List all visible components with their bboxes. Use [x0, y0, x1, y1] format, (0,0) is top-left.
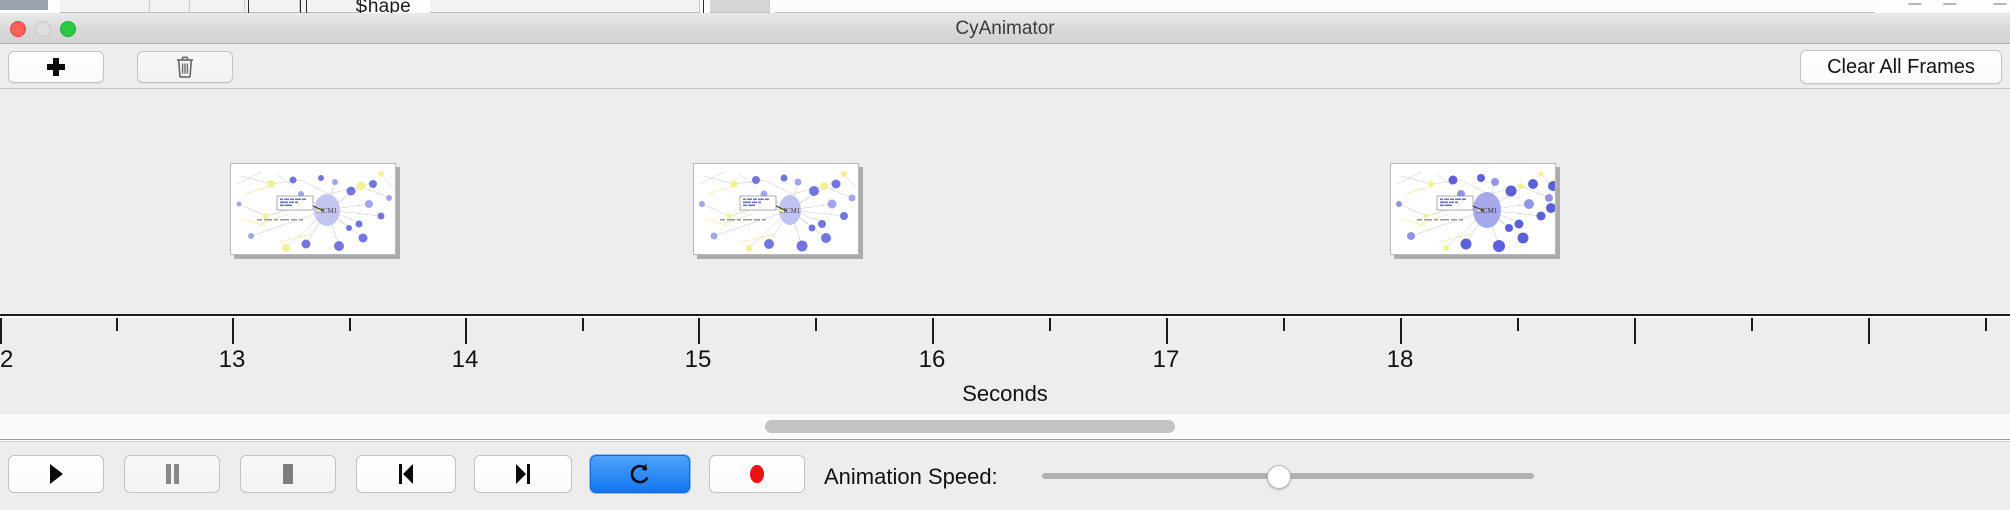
ruler-tick — [1517, 318, 1519, 331]
clear-all-frames-button[interactable]: Clear All Frames — [1800, 50, 2002, 84]
skip-back-icon — [396, 463, 416, 485]
ruler-tick — [815, 318, 817, 331]
pause-button[interactable] — [124, 455, 220, 493]
background-app-strip: Shape — [0, 0, 2010, 13]
ruler-tick — [932, 318, 934, 344]
frame-timeline-panel[interactable]: MCM1 — [0, 89, 2010, 316]
ruler-axis-title: Seconds — [0, 381, 2010, 407]
playback-control-bar: Animation Speed: — [0, 441, 2010, 510]
seconds-ruler: 12131415161718 Seconds — [0, 318, 2010, 414]
animation-speed-slider[interactable] — [1042, 442, 1534, 511]
ruler-tick-label: 14 — [452, 346, 479, 374]
ruler-tick — [582, 318, 584, 331]
skip-back-button[interactable] — [356, 455, 456, 493]
ruler-tick-label: 15 — [685, 346, 712, 374]
stop-button[interactable] — [240, 455, 336, 493]
record-button[interactable] — [709, 455, 805, 493]
ruler-tick — [232, 318, 234, 344]
delete-frame-button[interactable] — [137, 51, 233, 83]
ruler-tick — [1868, 318, 1870, 344]
frame-thumbnail[interactable]: MCM1 — [1390, 163, 1556, 255]
ruler-tick — [1751, 318, 1753, 331]
ruler-tick — [465, 318, 467, 344]
ruler-tick — [1166, 318, 1168, 344]
trash-icon — [174, 55, 196, 79]
timeline-scrollbar[interactable] — [0, 414, 2010, 440]
ruler-tick — [1985, 318, 1987, 331]
frame-thumbnail[interactable]: MCM1 — [230, 163, 396, 255]
stop-icon — [279, 463, 297, 485]
animation-speed-label: Animation Speed: — [824, 442, 998, 511]
ruler-tick — [698, 318, 700, 344]
play-icon — [47, 463, 65, 485]
ruler-tick — [116, 318, 118, 331]
clear-all-frames-label: Clear All Frames — [1827, 56, 1975, 79]
frame-toolbar: Clear All Frames — [0, 44, 2010, 89]
window-titlebar[interactable]: CyAnimator — [0, 13, 2010, 44]
ruler-tick — [1634, 318, 1636, 344]
ruler-tick-label: 18 — [1387, 346, 1414, 374]
ruler-tick-label: 17 — [1153, 346, 1180, 374]
slider-knob[interactable] — [1267, 465, 1291, 489]
loop-button[interactable] — [590, 455, 690, 493]
pause-icon — [163, 463, 181, 485]
ruler-tick — [349, 318, 351, 331]
skip-forward-button[interactable] — [474, 455, 572, 493]
ruler-tick — [0, 318, 2, 344]
add-frame-button[interactable] — [8, 51, 104, 83]
ruler-tick — [1283, 318, 1285, 331]
cyanimator-window: Shape CyAnimator Cle — [0, 0, 2010, 510]
ruler-tick-label: 12 — [0, 346, 13, 374]
ruler-tick — [1049, 318, 1051, 331]
ruler-tick-label: 16 — [919, 346, 946, 374]
scrollbar-thumb[interactable] — [765, 420, 1175, 433]
frame-thumbnail[interactable]: MCM1 — [693, 163, 859, 255]
loop-icon — [629, 462, 651, 486]
plus-icon — [46, 57, 66, 77]
play-button[interactable] — [8, 455, 104, 493]
window-title: CyAnimator — [0, 13, 2010, 44]
background-app-label: Shape — [355, 0, 411, 13]
record-icon — [747, 462, 767, 486]
ruler-tick — [1400, 318, 1402, 344]
ruler-tick-label: 13 — [219, 346, 246, 374]
skip-forward-icon — [513, 463, 533, 485]
background-titlebar-fragment — [0, 0, 48, 10]
